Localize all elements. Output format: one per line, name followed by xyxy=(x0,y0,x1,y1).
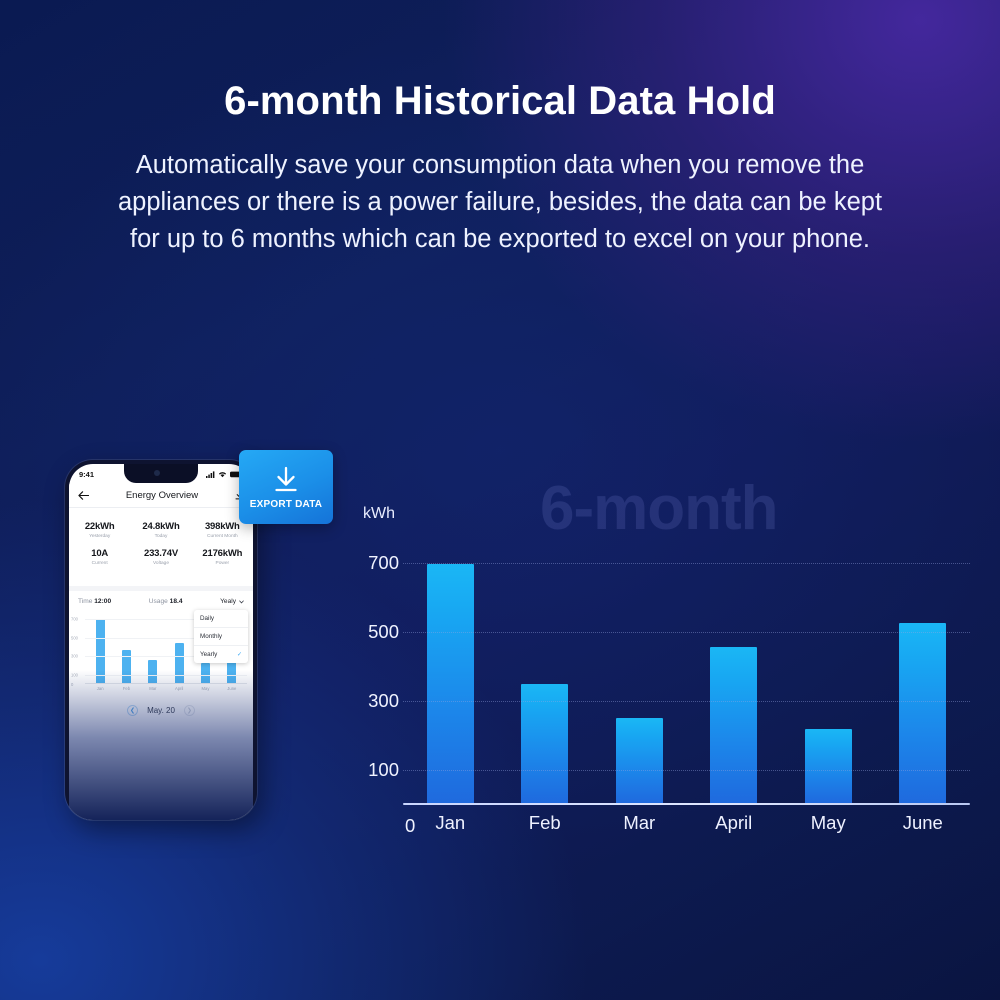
phone-page-title: Energy Overview xyxy=(126,490,198,501)
subtitle-line-2: appliances or there is a power failure, … xyxy=(24,184,976,221)
phone-y-tick: 300 xyxy=(71,654,78,659)
period-option-label: Yearly xyxy=(200,651,217,658)
stats-row: 22kWh Yesterday 24.8kWh Today 398kWh Cur… xyxy=(69,516,253,543)
status-time: 9:41 xyxy=(79,470,94,479)
phone-navbar: Energy Overview xyxy=(69,484,253,508)
stats-row: 10A Current 233.74V Voltage 2176kWh Powe… xyxy=(69,543,253,570)
export-data-badge[interactable]: EXPORT DATA xyxy=(239,450,333,524)
y-axis-tick: 100 xyxy=(357,759,399,781)
period-dropdown-menu[interactable]: Daily Monthly Yearly ✓ xyxy=(194,610,248,663)
phone-chart-xlabels: JanFebMarAprilMayJune xyxy=(85,684,247,691)
time-readout: Time 12:00 xyxy=(78,598,111,605)
period-option-yearly[interactable]: Yearly ✓ xyxy=(194,646,248,663)
gridline xyxy=(85,675,247,676)
y-axis-tick: 500 xyxy=(357,621,399,643)
phone-chart-bar xyxy=(201,663,210,683)
stat-value: 2176kWh xyxy=(192,548,253,559)
phone-mockup: 9:41 xyxy=(55,452,270,822)
period-dropdown[interactable]: Yealy Daily Monthly xyxy=(220,598,244,605)
phone-notch xyxy=(124,464,198,483)
stat-label: Current xyxy=(69,561,130,566)
chart-bar xyxy=(616,718,663,803)
gridline xyxy=(403,770,970,771)
x-axis-line xyxy=(403,803,970,805)
period-option-monthly[interactable]: Monthly xyxy=(194,628,248,646)
stat-label: Yesterday xyxy=(69,534,130,539)
back-arrow-icon[interactable] xyxy=(78,491,89,500)
phone-x-tick: Feb xyxy=(122,686,131,691)
chart-bar xyxy=(805,729,852,803)
export-data-label: EXPORT DATA xyxy=(250,499,322,510)
check-icon: ✓ xyxy=(237,651,242,658)
gridline xyxy=(403,701,970,702)
x-axis-tick: Jan xyxy=(435,812,465,834)
stats-grid: 22kWh Yesterday 24.8kWh Today 398kWh Cur… xyxy=(69,512,253,574)
subtitle-line-1: Automatically save your consumption data… xyxy=(24,147,976,184)
period-option-daily[interactable]: Daily xyxy=(194,610,248,628)
phone-y-tick: 700 xyxy=(71,617,78,622)
phone-x-tick: April xyxy=(175,686,184,691)
stat-cell: 233.74V Voltage xyxy=(130,543,191,570)
stat-value: 10A xyxy=(69,548,130,559)
y-axis-zero-label: 0 xyxy=(405,815,415,837)
stat-cell: 2176kWh Power xyxy=(192,543,253,570)
front-camera-icon xyxy=(154,470,160,476)
stat-label: Today xyxy=(130,534,191,539)
usage-readout: Usage 18.4 xyxy=(149,598,183,605)
date-pager: ❮ May. 20 ❯ xyxy=(69,700,253,721)
gridline xyxy=(403,563,970,564)
x-axis-tick: May xyxy=(811,812,846,834)
period-option-label: Monthly xyxy=(200,633,222,640)
phone-chart-bar xyxy=(148,660,157,683)
time-label: Time xyxy=(78,598,92,605)
chevron-down-icon xyxy=(239,600,244,604)
chevron-right-icon[interactable]: ❯ xyxy=(184,705,195,716)
phone-frame: 9:41 xyxy=(65,460,257,820)
chart-plot-area: 0 700500300100 xyxy=(403,535,970,805)
stat-cell: 10A Current xyxy=(69,543,130,570)
stat-label: Power xyxy=(192,561,253,566)
phone-y-tick: 500 xyxy=(71,635,78,640)
x-axis-tick: June xyxy=(903,812,943,834)
gridline xyxy=(403,632,970,633)
time-value: 12:00 xyxy=(94,598,111,605)
usage-label: Usage xyxy=(149,598,168,605)
phone-screen: 9:41 xyxy=(69,464,253,820)
phone-chart-bar xyxy=(122,650,131,683)
stat-cell: 22kWh Yesterday xyxy=(69,516,130,543)
stat-value: 233.74V xyxy=(130,548,191,559)
main-bar-chart: kWh 0 700500300100 JanFebMarAprilMayJune xyxy=(355,505,980,835)
y-axis-tick: 300 xyxy=(357,690,399,712)
stat-value: 22kWh xyxy=(69,521,130,532)
period-option-label: Daily xyxy=(200,615,214,622)
stat-label: Voltage xyxy=(130,561,191,566)
phone-x-tick: Jan xyxy=(96,686,105,691)
x-axis-tick: Mar xyxy=(623,812,655,834)
stat-label: Current Month xyxy=(192,534,253,539)
chevron-left-icon[interactable]: ❮ xyxy=(127,705,138,716)
subtitle-line-3: for up to 6 months which can be exported… xyxy=(24,221,976,258)
promo-banner: 6-month Historical Data Hold Automatical… xyxy=(0,0,1000,1000)
phone-y-tick: 100 xyxy=(71,672,78,677)
signal-icon xyxy=(206,471,215,478)
chart-controls: Time 12:00 Usage 18.4 Yealy xyxy=(69,591,253,608)
period-dropdown-value: Yealy xyxy=(220,598,236,605)
y-axis-label: kWh xyxy=(363,505,395,523)
phone-chart-bar xyxy=(175,643,184,683)
page-title: 6-month Historical Data Hold xyxy=(0,78,1000,125)
x-axis-tick: April xyxy=(715,812,752,834)
wifi-icon xyxy=(218,471,227,478)
phone-chart-zero: 0 xyxy=(71,682,73,687)
stat-value: 24.8kWh xyxy=(130,521,191,532)
page-subtitle: Automatically save your consumption data… xyxy=(0,147,1000,258)
chart-bars xyxy=(403,535,970,803)
download-icon xyxy=(271,465,301,495)
chart-bar xyxy=(427,564,474,803)
x-axis-tick: Feb xyxy=(529,812,561,834)
header-block: 6-month Historical Data Hold Automatical… xyxy=(0,78,1000,258)
phone-x-tick: May xyxy=(201,686,210,691)
chart-bar xyxy=(899,623,946,803)
usage-value: 18.4 xyxy=(170,598,183,605)
stat-cell: 24.8kWh Today xyxy=(130,516,191,543)
y-axis-tick: 700 xyxy=(357,552,399,574)
phone-chart-bar xyxy=(96,619,105,683)
phone-x-tick: Mar xyxy=(148,686,157,691)
status-icons xyxy=(206,471,243,478)
pager-label: May. 20 xyxy=(147,706,175,715)
phone-x-tick: June xyxy=(227,686,236,691)
chart-bar xyxy=(710,647,757,803)
